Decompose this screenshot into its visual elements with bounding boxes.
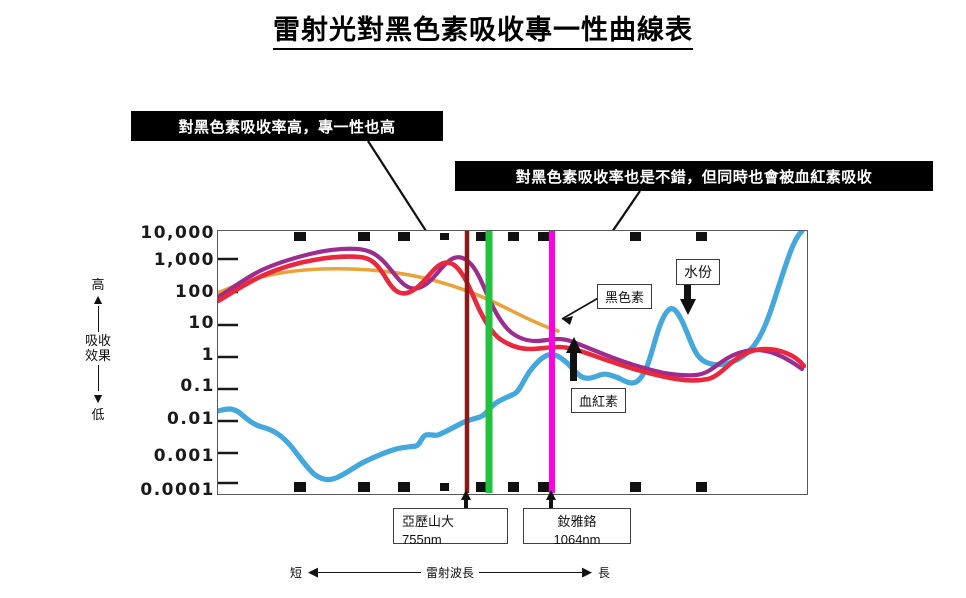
callout-melanin-high-absorption: 對黑色素吸收率高，專一性也高 xyxy=(131,111,443,141)
label-box-melanin: 黑色素 xyxy=(597,284,652,309)
yaxis-high-label: 高 xyxy=(91,278,104,292)
arrow-right-icon: ▶ xyxy=(582,564,592,580)
label-melanin-text: 黑色素 xyxy=(605,290,644,305)
arrow-up-icon: ▲ xyxy=(91,292,105,306)
callout-1-text: 對黑色素吸收率高，專一性也高 xyxy=(178,116,395,137)
xaxis-right-rule xyxy=(479,572,582,573)
label-hemoglobin-text: 血紅素 xyxy=(579,394,618,409)
ytick-label-10000: 10,000 xyxy=(95,223,215,243)
page-title: 雷射光對黑色素吸收專一性曲線表 xyxy=(0,8,966,47)
xaxis-short-label: 短 xyxy=(290,564,302,581)
xaxis-left-rule xyxy=(318,572,421,573)
wavelength-alexandrite-value: 755nm xyxy=(402,531,499,549)
label-water-text: 水份 xyxy=(684,264,712,280)
xaxis-name: 雷射波長 xyxy=(421,564,479,581)
ytick-label-1000: 1,000 xyxy=(95,250,215,270)
melanin-pointer-arrow xyxy=(562,297,600,325)
bottom-edge-square-markers xyxy=(294,482,707,492)
top-edge-square-markers xyxy=(294,232,707,241)
label-box-hemoglobin: 血紅素 xyxy=(571,388,626,413)
wavelength-box-ndyag: 釹雅鉻 1064nm xyxy=(523,508,631,544)
yaxis-annotation: 高 ▲ 吸收 效果 ▼ 低 xyxy=(80,278,116,422)
ytick-label-0.001: 0.001 xyxy=(95,446,215,466)
page-title-text: 雷射光對黑色素吸收專一性曲線表 xyxy=(273,15,693,50)
yaxis-upper-rule xyxy=(98,306,99,332)
callout-melanin-and-hemoglobin-absorption: 對黑色素吸收率也是不錯，但同時也會被血紅素吸收 xyxy=(455,161,933,191)
yaxis-lower-rule xyxy=(98,365,99,391)
wavelength-alexandrite-name: 亞歷山大 xyxy=(402,513,499,531)
wavelength-box-alexandrite: 亞歷山大 755nm xyxy=(393,508,508,544)
yaxis-low-label: 低 xyxy=(91,408,104,422)
ytick-label-0.0001: 0.0001 xyxy=(95,480,215,500)
xaxis-annotation: 短 ◀ 雷射波長 ▶ 長 xyxy=(290,562,610,582)
wavelength-ndyag-name: 釹雅鉻 xyxy=(532,513,622,531)
callout-2-text: 對黑色素吸收率也是不錯，但同時也會被血紅素吸收 xyxy=(516,166,873,187)
xaxis-arrow-group: ◀ 雷射波長 ▶ xyxy=(308,564,592,581)
label-box-water: 水份 xyxy=(676,259,720,285)
arrow-down-icon: ▼ xyxy=(91,391,105,405)
yaxis-name-line1: 吸收 xyxy=(85,334,111,348)
wavelength-ndyag-value: 1064nm xyxy=(532,531,622,549)
yaxis-name-line2: 效果 xyxy=(85,349,111,363)
xaxis-long-label: 長 xyxy=(598,564,610,581)
arrow-left-icon: ◀ xyxy=(308,564,318,580)
